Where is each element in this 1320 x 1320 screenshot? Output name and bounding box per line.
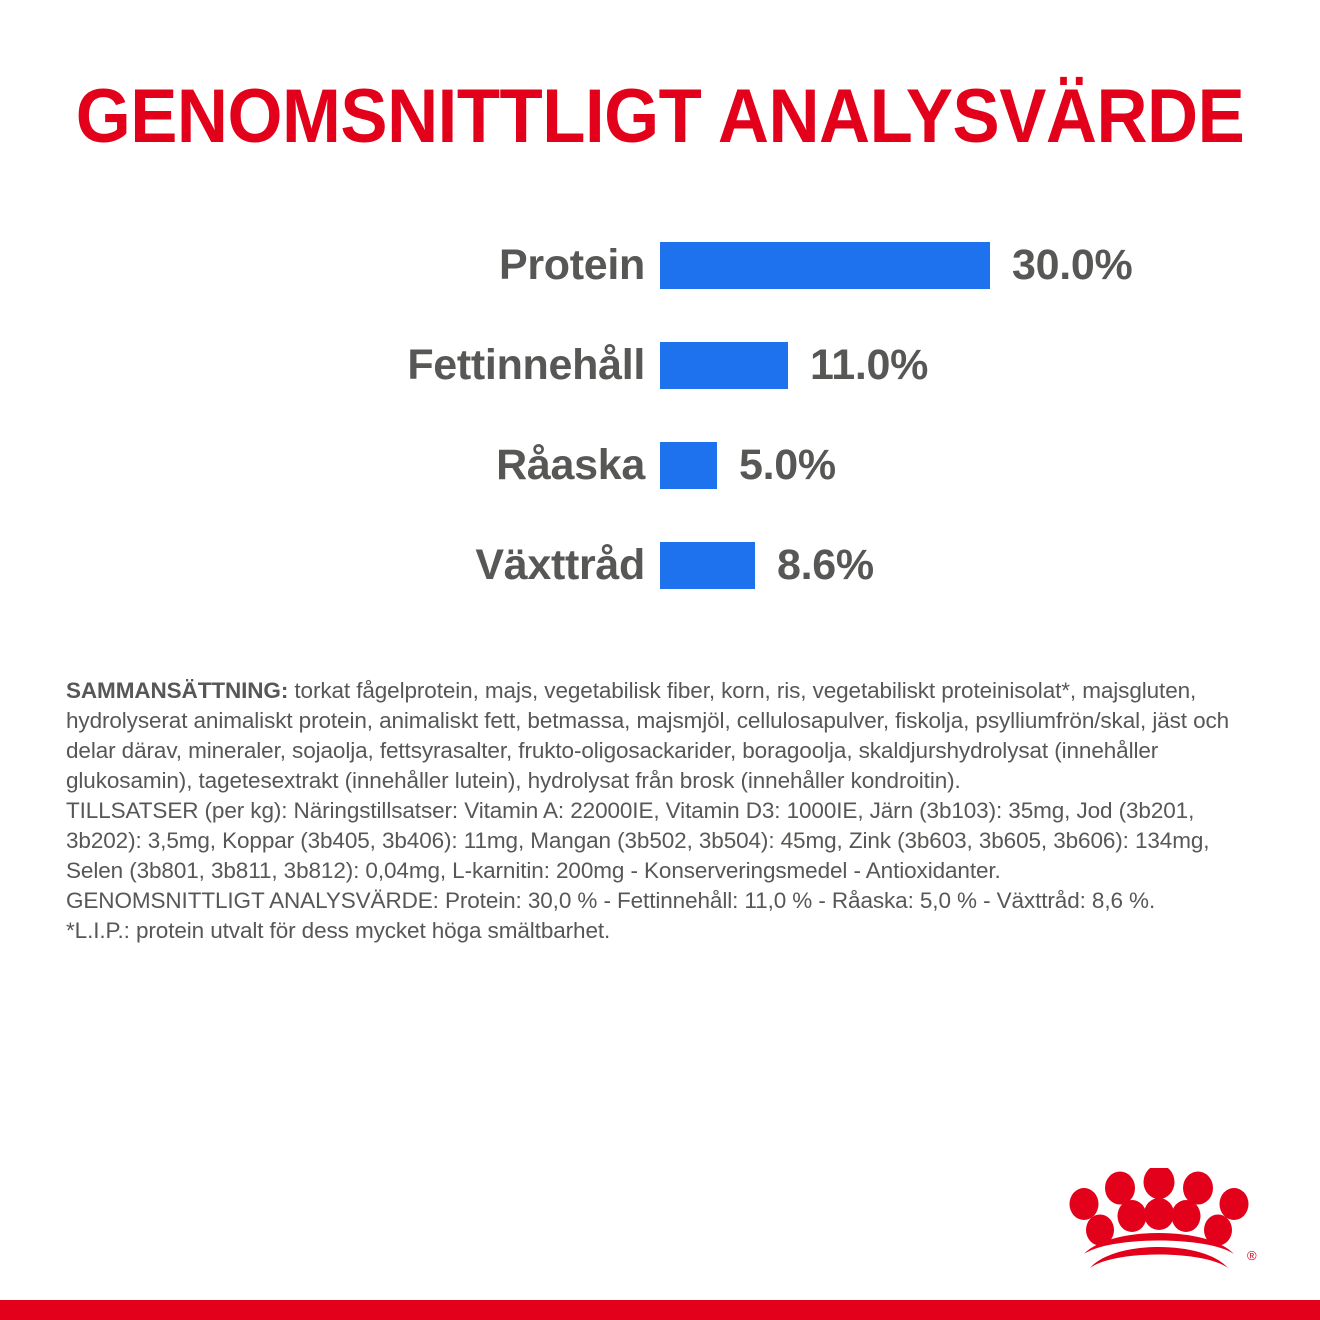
bar-value-ash: 5.0% <box>739 440 836 490</box>
bar-fill-fat <box>660 342 788 389</box>
average-analysis-chart: Protein 30.0% Fettinnehåll 11.0% Råaska … <box>0 222 1320 622</box>
composition-analysis-summary: GENOMSNITTLIGT ANALYSVÄRDE: Protein: 30,… <box>66 886 1256 916</box>
chart-row-fat: Fettinnehåll 11.0% <box>0 322 1320 422</box>
bar-fill-fibre <box>660 542 755 589</box>
registered-trademark-mark: ® <box>1247 1248 1257 1263</box>
bar-label-ash: Råaska <box>0 440 645 490</box>
bar-value-fibre: 8.6% <box>777 540 874 590</box>
composition-ingredients-paragraph: SAMMANSÄTTNING: torkat fågelprotein, maj… <box>66 676 1256 796</box>
bar-value-protein: 30.0% <box>1012 240 1132 290</box>
composition-text-block: SAMMANSÄTTNING: torkat fågelprotein, maj… <box>66 676 1256 946</box>
chart-row-protein: Protein 30.0% <box>0 222 1320 322</box>
bar-label-protein: Protein <box>0 240 645 290</box>
bar-track-protein <box>660 242 990 289</box>
composition-additives: TILLSATSER (per kg): Näringstillsatser: … <box>66 796 1256 886</box>
nutrition-panel-page: GENOMSNITTLIGT ANALYSVÄRDE Protein 30.0%… <box>0 0 1320 1320</box>
chart-row-fibre: Växttråd 8.6% <box>0 522 1320 622</box>
composition-lead-label: SAMMANSÄTTNING: <box>66 678 288 703</box>
bar-label-fibre: Växttråd <box>0 540 645 590</box>
bottom-brand-stripe <box>0 1300 1320 1320</box>
chart-row-ash: Råaska 5.0% <box>0 422 1320 522</box>
bar-track-fat <box>660 342 788 389</box>
bar-track-ash <box>660 442 717 489</box>
bar-fill-ash <box>660 442 717 489</box>
bar-value-fat: 11.0% <box>810 340 928 390</box>
royal-canin-crown-logo: ® <box>1062 1168 1262 1278</box>
page-title: GENOMSNITTLIGT ANALYSVÄRDE <box>46 72 1274 162</box>
bar-fill-protein <box>660 242 990 289</box>
composition-footnote: *L.I.P.: protein utvalt för dess mycket … <box>66 916 1256 946</box>
bar-track-fibre <box>660 542 755 589</box>
bar-label-fat: Fettinnehåll <box>0 340 645 390</box>
